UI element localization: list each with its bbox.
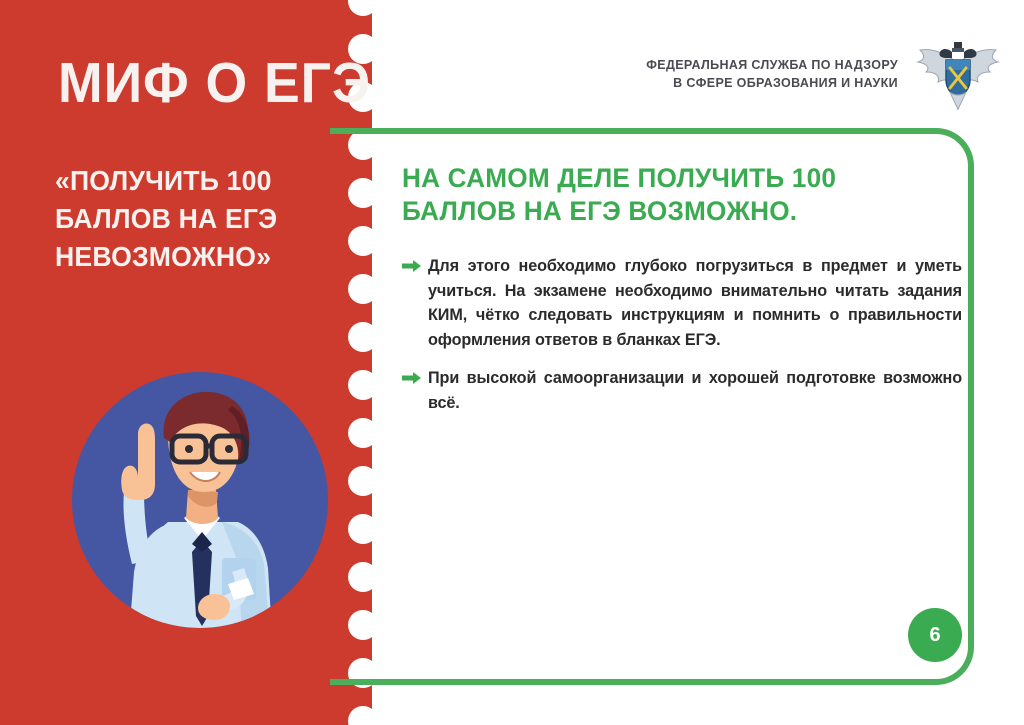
myth-quote-text: «ПОЛУЧИТЬ 100 БАЛЛОВ НА ЕГЭ НЕВОЗМОЖНО» bbox=[55, 162, 331, 276]
perforation-notch bbox=[348, 370, 378, 400]
green-right-arrow-icon bbox=[402, 371, 421, 385]
agency-name-line-1: ФЕДЕРАЛЬНАЯ СЛУЖБА ПО НАДЗОРУ bbox=[646, 56, 898, 74]
perforation-notch bbox=[348, 178, 378, 208]
perforation-notch bbox=[348, 322, 378, 352]
content-panel: НА САМОМ ДЕЛЕ ПОЛУЧИТЬ 100 БАЛЛОВ НА ЕГЭ… bbox=[402, 162, 962, 429]
green-right-arrow-icon bbox=[402, 259, 421, 273]
page-number-badge: 6 bbox=[908, 608, 962, 662]
perforation-notch bbox=[348, 0, 378, 16]
content-paragraph: Для этого необходимо глубоко погрузиться… bbox=[402, 254, 962, 352]
student-pointing-up-illustration bbox=[72, 372, 328, 628]
content-heading: НА САМОМ ДЕЛЕ ПОЛУЧИТЬ 100 БАЛЛОВ НА ЕГЭ… bbox=[402, 162, 945, 228]
perforation-notch bbox=[348, 610, 378, 640]
perforation-notch bbox=[348, 466, 378, 496]
perforation-notch bbox=[348, 130, 378, 160]
rosobrnadzor-double-headed-eagle-emblem bbox=[912, 36, 1004, 112]
content-paragraph-text: При высокой самоорганизации и хорошей по… bbox=[428, 369, 962, 412]
perforation-notch bbox=[348, 562, 378, 592]
perforation-notch bbox=[348, 418, 378, 448]
perforation-notch bbox=[348, 706, 378, 725]
perforation-notch bbox=[348, 226, 378, 256]
perforation-notch bbox=[348, 274, 378, 304]
perforation-notch bbox=[348, 658, 378, 688]
content-paragraph-text: Для этого необходимо глубоко погрузиться… bbox=[428, 257, 962, 349]
agency-header: ФЕДЕРАЛЬНАЯ СЛУЖБА ПО НАДЗОРУ В СФЕРЕ ОБ… bbox=[646, 36, 1004, 112]
slide-canvas: МИФ О ЕГЭ «ПОЛУЧИТЬ 100 БАЛЛОВ НА ЕГЭ НЕ… bbox=[0, 0, 1024, 725]
agency-name: ФЕДЕРАЛЬНАЯ СЛУЖБА ПО НАДЗОРУ В СФЕРЕ ОБ… bbox=[646, 56, 898, 92]
content-paragraph: При высокой самоорганизации и хорошей по… bbox=[402, 366, 962, 415]
perforation-notch bbox=[348, 514, 378, 544]
page-title: МИФ О ЕГЭ bbox=[58, 52, 340, 114]
agency-name-line-2: В СФЕРЕ ОБРАЗОВАНИЯ И НАУКИ bbox=[646, 74, 898, 92]
